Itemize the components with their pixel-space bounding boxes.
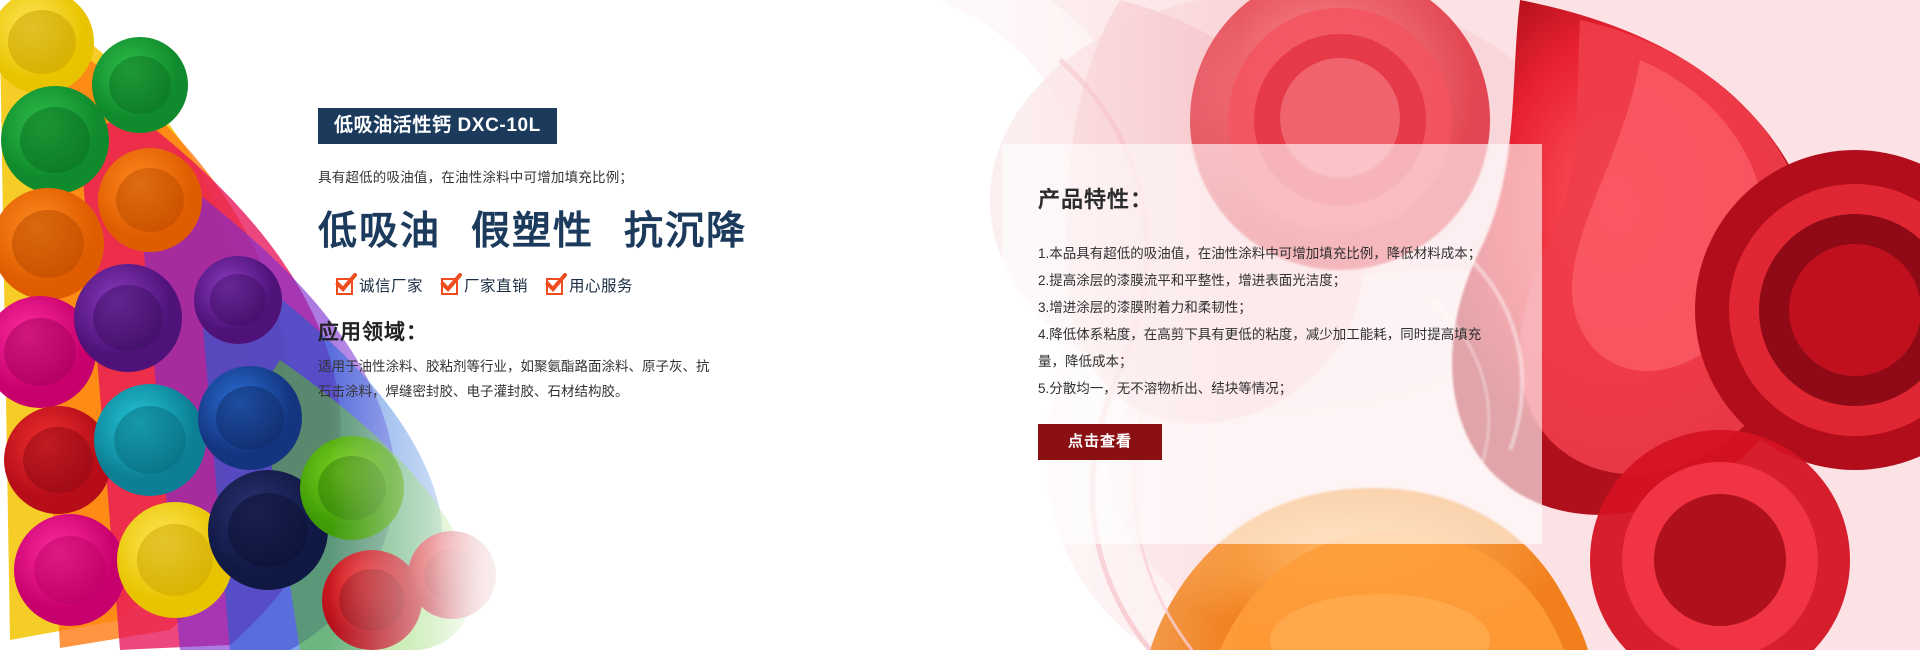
product-features-panel: 产品特性： 1.本品具有超低的吸油值，在油性涂料中可增加填充比例，降低材料成本；… [1002, 144, 1542, 544]
trust-badge: 用心服务 [546, 274, 633, 296]
feature-item: 5.分散均一，无不溶物析出、结块等情况； [1038, 375, 1498, 402]
view-details-button[interactable]: 点击查看 [1038, 424, 1162, 460]
check-box-icon [441, 277, 458, 294]
product-title-chip: 低吸油活性钙 DXC-10L [318, 108, 557, 144]
keyword-3: 抗沉降 [624, 210, 747, 253]
feature-item: 2.提高涂层的漆膜流平和平整性，增进表面光洁度； [1038, 267, 1498, 294]
check-box-icon [546, 277, 563, 294]
trust-badge-label: 诚信厂家 [359, 274, 423, 296]
keyword-row: 低吸油假塑性抗沉降 [318, 200, 738, 256]
keyword-1: 低吸油 [318, 210, 441, 253]
trust-badge-row: 诚信厂家 厂家直销 用心服务 [318, 274, 738, 296]
features-panel-title: 产品特性： [1038, 182, 1506, 214]
trust-badge: 厂家直销 [441, 274, 528, 296]
left-copy-block: 低吸油活性钙 DXC-10L 具有超低的吸油值，在油性涂料中可增加填充比例； 低… [318, 108, 738, 405]
trust-badge-label: 厂家直销 [464, 274, 528, 296]
feature-item: 4.降低体系粘度，在高剪下具有更低的粘度，减少加工能耗，同时提高填充量，降低成本… [1038, 321, 1498, 375]
trust-badge-label: 用心服务 [569, 274, 633, 296]
check-box-icon [336, 277, 353, 294]
keyword-2: 假塑性 [471, 210, 594, 253]
feature-item: 3.增进涂层的漆膜附着力和柔韧性； [1038, 294, 1498, 321]
features-list: 1.本品具有超低的吸油值，在油性涂料中可增加填充比例，降低材料成本； 2.提高涂… [1038, 240, 1498, 402]
trust-badge: 诚信厂家 [336, 274, 423, 296]
product-subtitle: 具有超低的吸油值，在油性涂料中可增加填充比例； [318, 166, 738, 186]
application-section-body: 适用于油性涂料、胶粘剂等行业，如聚氨酯路面涂料、原子灰、抗石击涂料，焊缝密封胶、… [318, 355, 718, 405]
feature-item: 1.本品具有超低的吸油值，在油性涂料中可增加填充比例，降低材料成本； [1038, 240, 1498, 267]
application-section-title: 应用领域： [318, 316, 738, 346]
product-banner: 低吸油活性钙 DXC-10L 具有超低的吸油值，在油性涂料中可增加填充比例； 低… [0, 0, 1920, 650]
